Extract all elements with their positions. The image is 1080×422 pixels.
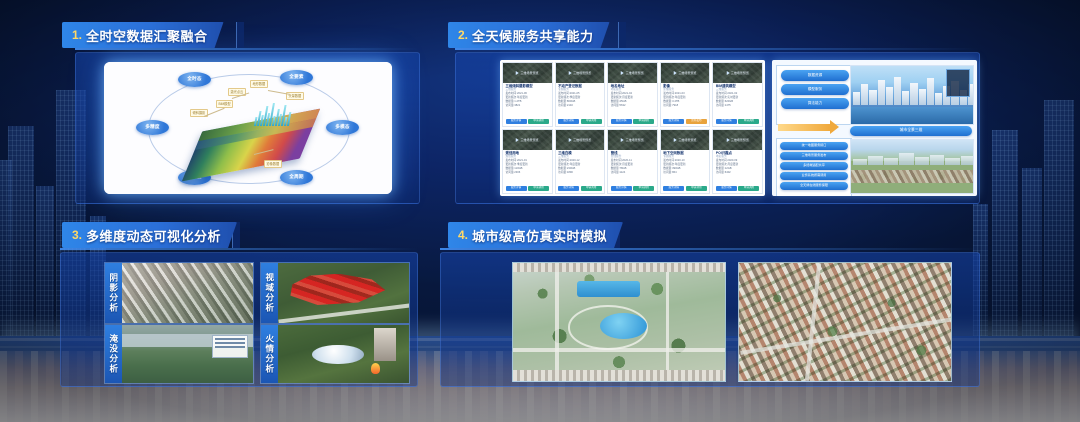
catalog-card-button[interactable]: 申请调用 bbox=[738, 186, 759, 191]
catalog-card[interactable]: 三维场景预览BIM建筑模型三维服务发布时间:2021-02更新频次:实时更新数据… bbox=[712, 62, 763, 127]
catalog-card-actions: 服务详情申请调用 bbox=[558, 185, 602, 191]
section-3-number: 3. bbox=[72, 228, 82, 242]
catalog-card-button[interactable]: 服务详情 bbox=[663, 186, 684, 191]
play-icon: 三维场景预览 bbox=[569, 138, 592, 142]
catalog-card[interactable]: 三维场景预览三维白模三维服务发布时间:2020-12更新频次:年度更新数据量:2… bbox=[555, 129, 606, 194]
catalog-card-button[interactable]: 申请调用 bbox=[738, 119, 759, 124]
catalog-card-button[interactable]: 申请调用 bbox=[581, 186, 602, 191]
catalog-card[interactable]: 三维场景预览不动产登记数据专题服务发布时间:2021-05更新频次:季度更新数据… bbox=[555, 62, 606, 127]
flow-output-5[interactable]: 全天候在线服务保障 bbox=[780, 182, 848, 190]
catalog-card-actions: 服务详情申请调用 bbox=[611, 185, 655, 191]
town-render[interactable] bbox=[738, 262, 952, 382]
play-icon: 三维场景预览 bbox=[726, 138, 749, 142]
city-skyline-preview bbox=[850, 65, 974, 125]
play-icon: 三维场景预览 bbox=[621, 138, 644, 142]
section-2-label: 全天候服务共享能力 bbox=[472, 26, 594, 45]
flow-output-1[interactable]: 统一地图服务接口 bbox=[780, 142, 848, 150]
section-2-title: 2. 全天候服务共享能力 bbox=[448, 22, 610, 48]
play-icon: 三维场景预览 bbox=[621, 71, 644, 75]
catalog-card-button[interactable]: 服务详情 bbox=[663, 119, 684, 124]
flood-analysis-label: 淹没分析 bbox=[105, 325, 122, 383]
catalog-card[interactable]: 三维场景预览三维倾斜摄影模型三维服务发布时间:2021-06更新频次:年度更新数… bbox=[502, 62, 553, 127]
catalog-card-actions: 服务详情申请调用 bbox=[716, 118, 760, 124]
diagram-tag-6: 影像数据 bbox=[264, 160, 282, 168]
catalog-card[interactable]: 三维场景预览影像影像服务发布时间:2021-03更新频次:年度更新数据量:3.4… bbox=[660, 62, 711, 127]
catalog-card[interactable]: 三维场景预览规划用地规划服务发布时间:2021-01更新频次:季度更新数据量:1… bbox=[502, 129, 553, 194]
service-catalog-sheet: 三维场景预览三维倾斜摄影模型三维服务发布时间:2021-06更新频次:年度更新数… bbox=[500, 60, 765, 196]
catalog-card-thumbnail: 三维场景预览 bbox=[713, 130, 762, 150]
preview-center-caption: 城市全景三维 bbox=[850, 126, 972, 136]
flood-analysis[interactable]: 淹没分析 bbox=[104, 324, 254, 384]
catalog-card-meta: 访问量:864 bbox=[663, 172, 707, 175]
catalog-card-button[interactable]: 申请调用 bbox=[528, 119, 549, 124]
flow-output-3[interactable]: 多终端适配共享 bbox=[780, 162, 848, 170]
catalog-card-button[interactable]: 服务详情 bbox=[558, 119, 579, 124]
section-1-label: 全时空数据汇聚融合 bbox=[86, 26, 208, 45]
catalog-card-button[interactable]: 申请调用 bbox=[686, 186, 707, 191]
flow-output-2[interactable]: 三维场景服务发布 bbox=[780, 152, 848, 160]
presentation-slide: 1. 全时空数据汇聚融合 全时态 全要素 多模态 全尺度 全周期 多精度 倾斜摄… bbox=[0, 0, 1080, 422]
catalog-card-button[interactable]: 服务详情 bbox=[716, 119, 737, 124]
park-render[interactable] bbox=[512, 262, 726, 382]
catalog-card-meta: 访问量:1475 bbox=[716, 105, 760, 108]
catalog-card-button[interactable]: 服务详情 bbox=[558, 186, 579, 191]
section-4-label: 城市级高仿真实时模拟 bbox=[472, 226, 607, 245]
flow-input-1[interactable]: 数据资源 bbox=[781, 70, 849, 81]
catalog-card-thumbnail: 三维场景预览 bbox=[556, 63, 605, 83]
catalog-card-meta: 访问量:5632 bbox=[611, 105, 655, 108]
flow-input-3[interactable]: 算法能力 bbox=[781, 98, 849, 109]
play-icon: 三维场景预览 bbox=[569, 71, 592, 75]
catalog-card-actions: 服务详情申请调用 bbox=[506, 118, 550, 124]
section-3-label: 多维度动态可视化分析 bbox=[86, 226, 221, 245]
catalog-card-thumbnail: 三维场景预览 bbox=[503, 130, 552, 150]
catalog-card-thumbnail: 三维场景预览 bbox=[556, 130, 605, 150]
catalog-card-actions: 服务详情暂停发布 bbox=[663, 118, 707, 124]
diagram-node-1: 全时态 bbox=[178, 72, 211, 87]
diagram-tag-4: 地形数据 bbox=[250, 80, 268, 88]
diagram-node-6: 多精度 bbox=[136, 120, 169, 135]
catalog-card-thumbnail: 三维场景预览 bbox=[608, 63, 657, 83]
flow-output-group: 统一地图服务接口 三维场景服务发布 多终端适配共享 业务系统按需调用 全天候在线… bbox=[776, 138, 852, 196]
catalog-card-button[interactable]: 服务详情 bbox=[611, 186, 632, 191]
flow-arrow-icon bbox=[778, 120, 839, 134]
catalog-card-actions: 服务详情申请调用 bbox=[558, 118, 602, 124]
catalog-card-meta: 访问量:7918 bbox=[663, 105, 707, 108]
catalog-card-button[interactable]: 申请调用 bbox=[528, 186, 549, 191]
catalog-card-meta: 访问量:1124 bbox=[611, 172, 655, 175]
catalog-card-thumbnail: 三维场景预览 bbox=[661, 130, 710, 150]
flow-output-4[interactable]: 业务系统按需调用 bbox=[780, 172, 848, 180]
diagram-node-2: 全要素 bbox=[280, 70, 313, 85]
catalog-card[interactable]: 三维场景预览POI兴趣点地名服务发布时间:2020-09更新频次:月度更新数据量… bbox=[712, 129, 763, 194]
diagram-node-3: 多模态 bbox=[326, 120, 359, 135]
flow-input-2[interactable]: 模型服务 bbox=[781, 84, 849, 95]
play-icon: 三维场景预览 bbox=[726, 71, 749, 75]
shadow-analysis-label: 阴影分析 bbox=[105, 263, 122, 323]
diagram-node-5: 全周期 bbox=[280, 170, 313, 185]
section-2-number: 2. bbox=[458, 28, 468, 42]
play-icon: 三维场景预览 bbox=[674, 138, 697, 142]
fire-analysis-label: 火情分析 bbox=[261, 325, 278, 383]
catalog-card-button[interactable]: 申请调用 bbox=[633, 186, 654, 191]
play-icon: 三维场景预览 bbox=[516, 71, 539, 75]
section-4-number: 4. bbox=[458, 228, 468, 242]
catalog-card-actions: 服务详情申请调用 bbox=[506, 185, 550, 191]
viewshed-analysis[interactable]: 视域分析 bbox=[260, 262, 410, 324]
catalog-card[interactable]: 三维场景预览管线管线服务发布时间:2020-11更新频次:月度更新数据量:78G… bbox=[607, 129, 658, 194]
catalog-card-meta: 访问量:1890 bbox=[558, 172, 602, 175]
catalog-card-thumbnail: 三维场景预览 bbox=[661, 63, 710, 83]
catalog-card[interactable]: 三维场景预览地下空间数据专题服务发布时间:2020-10更新频次:年度更新数据量… bbox=[660, 129, 711, 194]
flow-input-group: 数据资源 模型服务 算法能力 bbox=[776, 65, 854, 125]
catalog-card-button[interactable]: 暂停发布 bbox=[686, 119, 707, 124]
section-1-title: 1. 全时空数据汇聚融合 bbox=[62, 22, 224, 48]
catalog-card-button[interactable]: 申请调用 bbox=[581, 119, 602, 124]
catalog-card-button[interactable]: 申请调用 bbox=[633, 119, 654, 124]
catalog-card-meta: 访问量:3821 bbox=[506, 105, 550, 108]
city-model bbox=[254, 102, 293, 126]
play-icon: 三维场景预览 bbox=[516, 138, 539, 142]
spatiotemporal-diagram-card: 全时态 全要素 多模态 全尺度 全周期 多精度 倾斜摄影 BIM模型 激光点云 … bbox=[104, 62, 392, 194]
fire-analysis[interactable]: 火情分析 bbox=[260, 324, 410, 384]
catalog-card-actions: 服务详情申请调用 bbox=[663, 185, 707, 191]
suburb-preview bbox=[850, 139, 974, 194]
catalog-card-button[interactable]: 服务详情 bbox=[611, 119, 632, 124]
catalog-card-button[interactable]: 服务详情 bbox=[506, 119, 527, 124]
catalog-card-meta: 访问量:2306 bbox=[506, 172, 550, 175]
section-1-number: 1. bbox=[72, 28, 82, 42]
catalog-card-meta: 访问量:6402 bbox=[716, 172, 760, 175]
catalog-card[interactable]: 三维场景预览地名地址地名服务发布时间:2021-04更新频次:月度更新数据量:4… bbox=[607, 62, 658, 127]
catalog-card-actions: 服务详情申请调用 bbox=[611, 118, 655, 124]
play-icon: 三维场景预览 bbox=[674, 71, 697, 75]
catalog-card-thumbnail: 三维场景预览 bbox=[713, 63, 762, 83]
service-flow-sheet: 数据资源 模型服务 算法能力 统一地图服务接口 三维场景服务发布 多终端适配共享… bbox=[772, 60, 977, 196]
diagram-tag-2: BIM模型 bbox=[216, 100, 233, 108]
catalog-card-thumbnail: 三维场景预览 bbox=[503, 63, 552, 83]
catalog-card-meta: 访问量:2140 bbox=[558, 105, 602, 108]
shadow-analysis[interactable]: 阴影分析 bbox=[104, 262, 254, 324]
viewshed-analysis-label: 视域分析 bbox=[261, 263, 278, 323]
catalog-card-actions: 服务详情申请调用 bbox=[716, 185, 760, 191]
catalog-card-button[interactable]: 服务详情 bbox=[506, 186, 527, 191]
catalog-card-thumbnail: 三维场景预览 bbox=[608, 130, 657, 150]
section-3-title: 3. 多维度动态可视化分析 bbox=[62, 222, 237, 248]
catalog-card-button[interactable]: 服务详情 bbox=[716, 186, 737, 191]
section-4-title: 4. 城市级高仿真实时模拟 bbox=[448, 222, 623, 248]
